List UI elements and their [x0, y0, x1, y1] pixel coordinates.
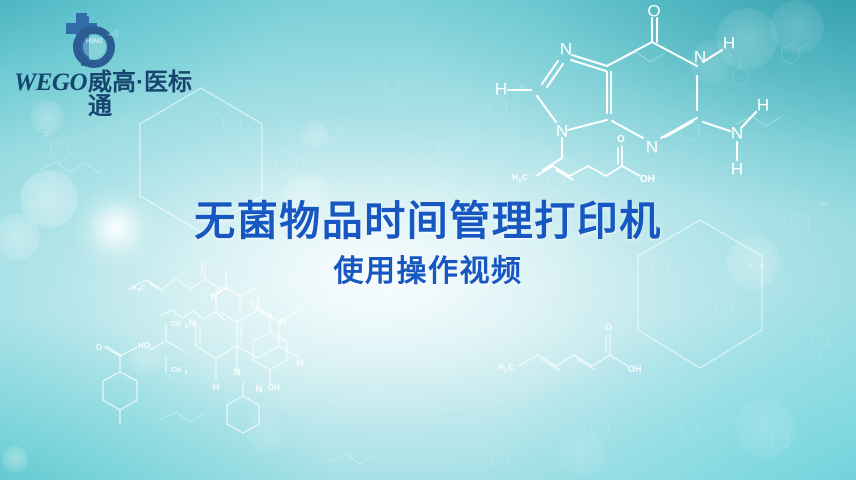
mark-inner-label: HSMJ	[86, 39, 102, 45]
brand-wordmark-latin: WEGO	[14, 70, 87, 95]
title-card-slide: H2N OO NOH	[0, 0, 856, 480]
title-block: 无菌物品时间管理打印机 使用操作视频	[0, 200, 856, 288]
page-title: 无菌物品时间管理打印机	[0, 200, 856, 243]
brand-logo: HSMJ WEGO 威高·医标通	[14, 12, 214, 119]
wego-circular-b-mark-icon: HSMJ	[58, 12, 120, 72]
brand-wordmark-cn: 威高·医标通	[88, 71, 214, 119]
brand-wordmark: WEGO 威高·医标通	[14, 70, 214, 119]
page-subtitle: 使用操作视频	[0, 256, 856, 288]
